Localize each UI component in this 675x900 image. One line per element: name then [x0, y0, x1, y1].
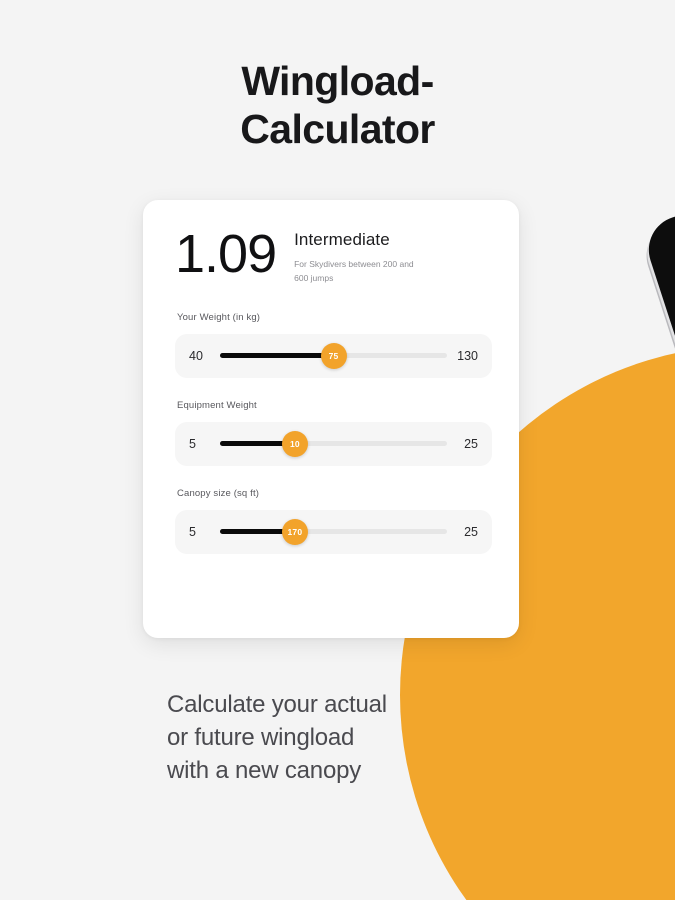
page-title-line-1: Wingload-	[0, 57, 675, 105]
slider-thumb-equipment-weight[interactable]: 10	[282, 431, 308, 457]
slider-canopy-size[interactable]: 5 170 25	[175, 510, 492, 554]
page-title-line-2: Calculator	[0, 105, 675, 153]
slider-group-equipment-weight: Equipment Weight 5 10 25	[170, 400, 492, 466]
slider-thumb-canopy-size[interactable]: 170	[282, 519, 308, 545]
slider-track-weight[interactable]: 75	[220, 343, 447, 369]
result-text-block: Intermediate For Skydivers between 200 a…	[294, 222, 429, 285]
slider-min-canopy-size: 5	[189, 525, 211, 539]
experience-level-description: For Skydivers between 200 and 600 jumps	[294, 258, 429, 284]
slider-min-weight: 40	[189, 349, 211, 363]
slider-group-canopy-size: Canopy size (sq ft) 5 170 25	[170, 488, 492, 554]
slider-fill-weight	[220, 353, 334, 359]
slider-max-weight: 130	[456, 349, 478, 363]
page-caption: Calculate your actual or future wingload…	[167, 688, 397, 787]
result-summary: 1.09 Intermediate For Skydivers between …	[170, 222, 492, 285]
wingload-value: 1.09	[175, 228, 276, 281]
wingload-calculator-card: 1.09 Intermediate For Skydivers between …	[143, 200, 519, 638]
slider-label-canopy-size: Canopy size (sq ft)	[175, 488, 492, 499]
slider-max-equipment-weight: 25	[456, 437, 478, 451]
experience-level-label: Intermediate	[294, 230, 429, 250]
slider-min-equipment-weight: 5	[189, 437, 211, 451]
slider-thumb-weight[interactable]: 75	[321, 343, 347, 369]
slider-track-equipment-weight[interactable]: 10	[220, 431, 447, 457]
slider-weight[interactable]: 40 75 130	[175, 334, 492, 378]
slider-equipment-weight[interactable]: 5 10 25	[175, 422, 492, 466]
slider-track-canopy-size[interactable]: 170	[220, 519, 447, 545]
slider-label-weight: Your Weight (in kg)	[175, 312, 492, 323]
slider-group-weight: Your Weight (in kg) 40 75 130	[170, 312, 492, 378]
slider-label-equipment-weight: Equipment Weight	[175, 400, 492, 411]
slider-max-canopy-size: 25	[456, 525, 478, 539]
page-title: Wingload- Calculator	[0, 57, 675, 154]
